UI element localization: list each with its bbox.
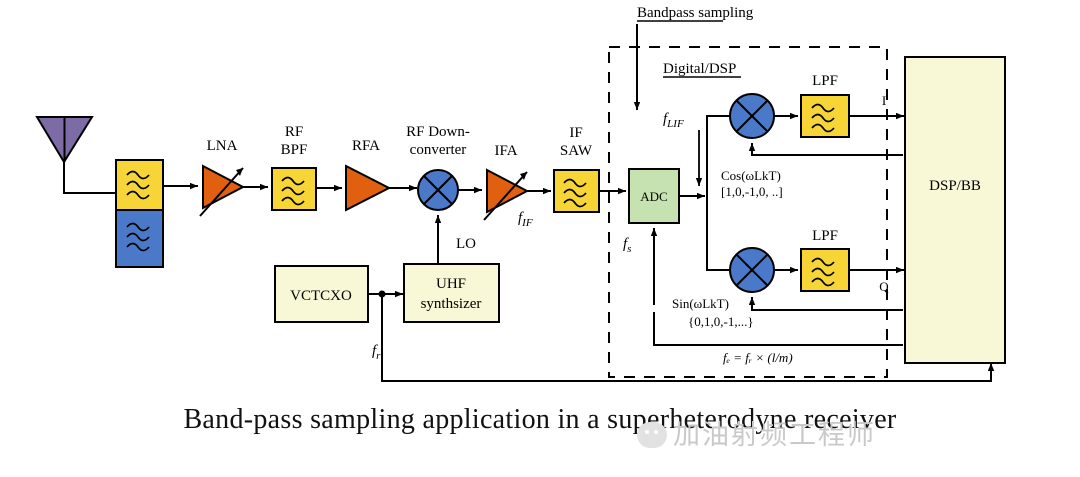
rfa-amplifier[interactable] xyxy=(346,166,389,210)
output-q-label: Q xyxy=(879,279,889,294)
output-i-label: I xyxy=(882,93,886,108)
dsp-bb-label: DSP/BB xyxy=(929,178,981,194)
i-path-mixer[interactable] xyxy=(730,94,774,138)
lpf-q-label: LPF xyxy=(812,228,838,244)
uhf-label-line1: UHF xyxy=(436,276,466,292)
lna-label: LNA xyxy=(207,138,238,154)
vctcxo-label: VCTCXO xyxy=(290,288,352,304)
cos-label: Cos(ωLkT) xyxy=(721,168,781,183)
lpf-i-filter[interactable] xyxy=(801,95,849,137)
f-r-label: fr xyxy=(372,343,381,362)
if-saw-label-line2: SAW xyxy=(560,143,593,159)
downconverter-label-line1: RF Down- xyxy=(406,124,470,140)
f-s-label: fs xyxy=(623,236,631,255)
lo-label: LO xyxy=(456,236,476,252)
fs-formula-label: fₑ = fᵣ × (l/m) xyxy=(723,350,793,365)
f-lif-label: fLIF xyxy=(663,111,684,130)
rf-bpf-filter[interactable] xyxy=(272,168,316,210)
q-path-mixer[interactable] xyxy=(730,248,774,292)
figure-caption: Band-pass sampling application in a supe… xyxy=(0,404,1080,436)
digital-dsp-label: Digital/DSP xyxy=(663,61,736,77)
adc-label: ADC xyxy=(640,189,667,204)
rf-bpf-label-line1: RF xyxy=(285,124,303,140)
bandpass-sampling-label: Bandpass sampling xyxy=(637,5,754,21)
sin-sequence: {0,1,0,-1,...} xyxy=(688,314,754,329)
block-diagram: LNA RF BPF RFA RF Down- converter LO IFA… xyxy=(0,0,1080,410)
sin-label: Sin(ωLkT) xyxy=(672,296,729,311)
if-saw-filter[interactable] xyxy=(554,170,599,212)
lna-amplifier[interactable] xyxy=(200,166,243,216)
rf-downconverter-mixer[interactable] xyxy=(418,170,458,210)
cos-sequence: [1,0,-1,0, ..] xyxy=(721,184,783,199)
downconverter-label-line2: converter xyxy=(410,142,467,158)
lpf-i-label: LPF xyxy=(812,73,838,89)
ifa-label: IFA xyxy=(494,143,517,159)
duplexer[interactable] xyxy=(116,160,163,267)
dsp-bb-block[interactable] xyxy=(905,57,1005,363)
uhf-synthesizer-block[interactable] xyxy=(404,264,499,322)
rf-bpf-label-line2: BPF xyxy=(281,142,308,158)
uhf-label-line2: synthsizer xyxy=(421,296,482,312)
if-saw-label-line1: IF xyxy=(569,125,582,141)
diagram-canvas: LNA RF BPF RFA RF Down- converter LO IFA… xyxy=(0,0,1080,477)
rfa-label: RFA xyxy=(352,138,380,154)
f-if-label: fIF xyxy=(518,210,533,229)
antenna-icon xyxy=(37,117,116,193)
lpf-q-filter[interactable] xyxy=(801,249,849,291)
